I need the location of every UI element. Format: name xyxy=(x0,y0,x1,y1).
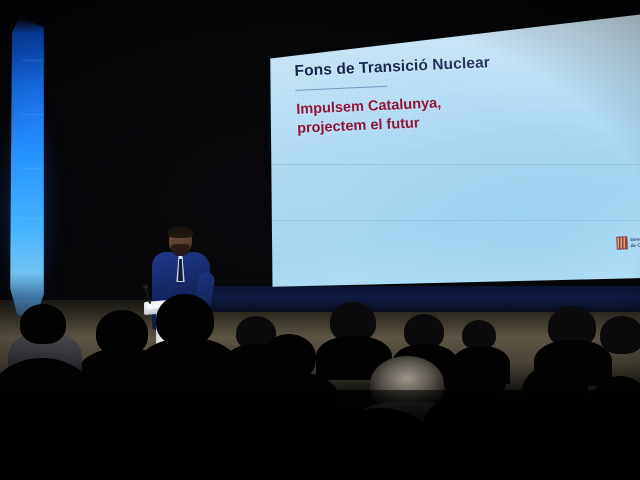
blue-lit-column xyxy=(10,18,44,318)
audience-silhouettes xyxy=(0,280,640,480)
photo-scene: Fons de Transició Nuclear Impulsem Catal… xyxy=(0,0,640,480)
speaker-hair xyxy=(168,226,193,238)
speaker-beard xyxy=(171,244,190,256)
screen-sheen xyxy=(268,14,640,289)
foreground-audience-mass xyxy=(0,390,640,480)
projection-screen: Fons de Transició Nuclear Impulsem Catal… xyxy=(268,14,640,289)
